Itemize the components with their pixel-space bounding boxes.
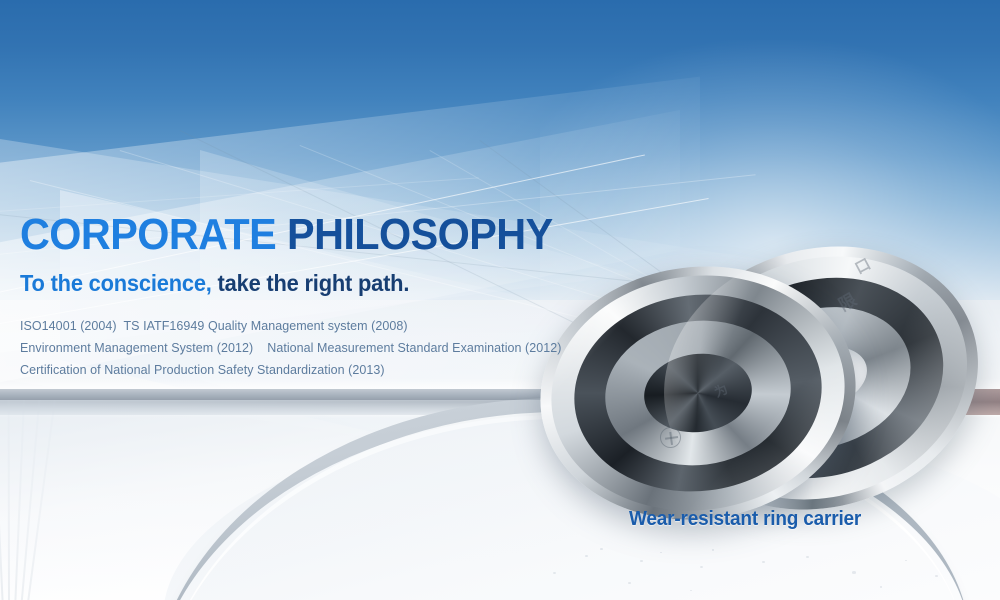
- plaza-step-shading: [0, 400, 600, 600]
- front-ring-groove-3: [640, 348, 757, 439]
- subhead-part-dark: take the right path.: [218, 270, 410, 296]
- front-ring-inner-lip: [691, 393, 705, 395]
- floor-speck: [712, 549, 714, 551]
- certification-line: Certification of National Production Saf…: [20, 359, 640, 381]
- certification-list: ISO14001 (2004) TS IATF16949 Quality Man…: [20, 315, 640, 381]
- product-caption: Wear-resistant ring carrier: [629, 508, 861, 531]
- headline-part-dark: PHILOSOPHY: [287, 210, 553, 259]
- floor-speck: [880, 586, 882, 588]
- page-subtitle: To the conscience, take the right path.: [20, 269, 609, 297]
- corporate-philosophy-banner: 口 限 为 CORPORATE PHILOSOPHY To the consci…: [0, 0, 1000, 600]
- floor-speck: [806, 556, 809, 558]
- floor-speck: [762, 561, 765, 563]
- certification-line: ISO14001 (2004) TS IATF16949 Quality Man…: [20, 315, 640, 337]
- page-title: CORPORATE PHILOSOPHY: [20, 210, 603, 260]
- floor-speck: [640, 560, 643, 562]
- banner-copy-block: CORPORATE PHILOSOPHY To the conscience, …: [20, 210, 640, 381]
- floor-speck: [905, 560, 907, 561]
- floor-speck: [700, 566, 703, 568]
- floor-speck: [628, 582, 631, 584]
- floor-speck: [553, 572, 556, 574]
- bore-reflection-streak: [754, 437, 755, 444]
- certification-line: Environment Management System (2012) Nat…: [20, 337, 640, 359]
- subhead-part-light: To the conscience,: [20, 270, 212, 296]
- headline-part-light: CORPORATE: [20, 210, 276, 259]
- floor-speck: [852, 571, 856, 574]
